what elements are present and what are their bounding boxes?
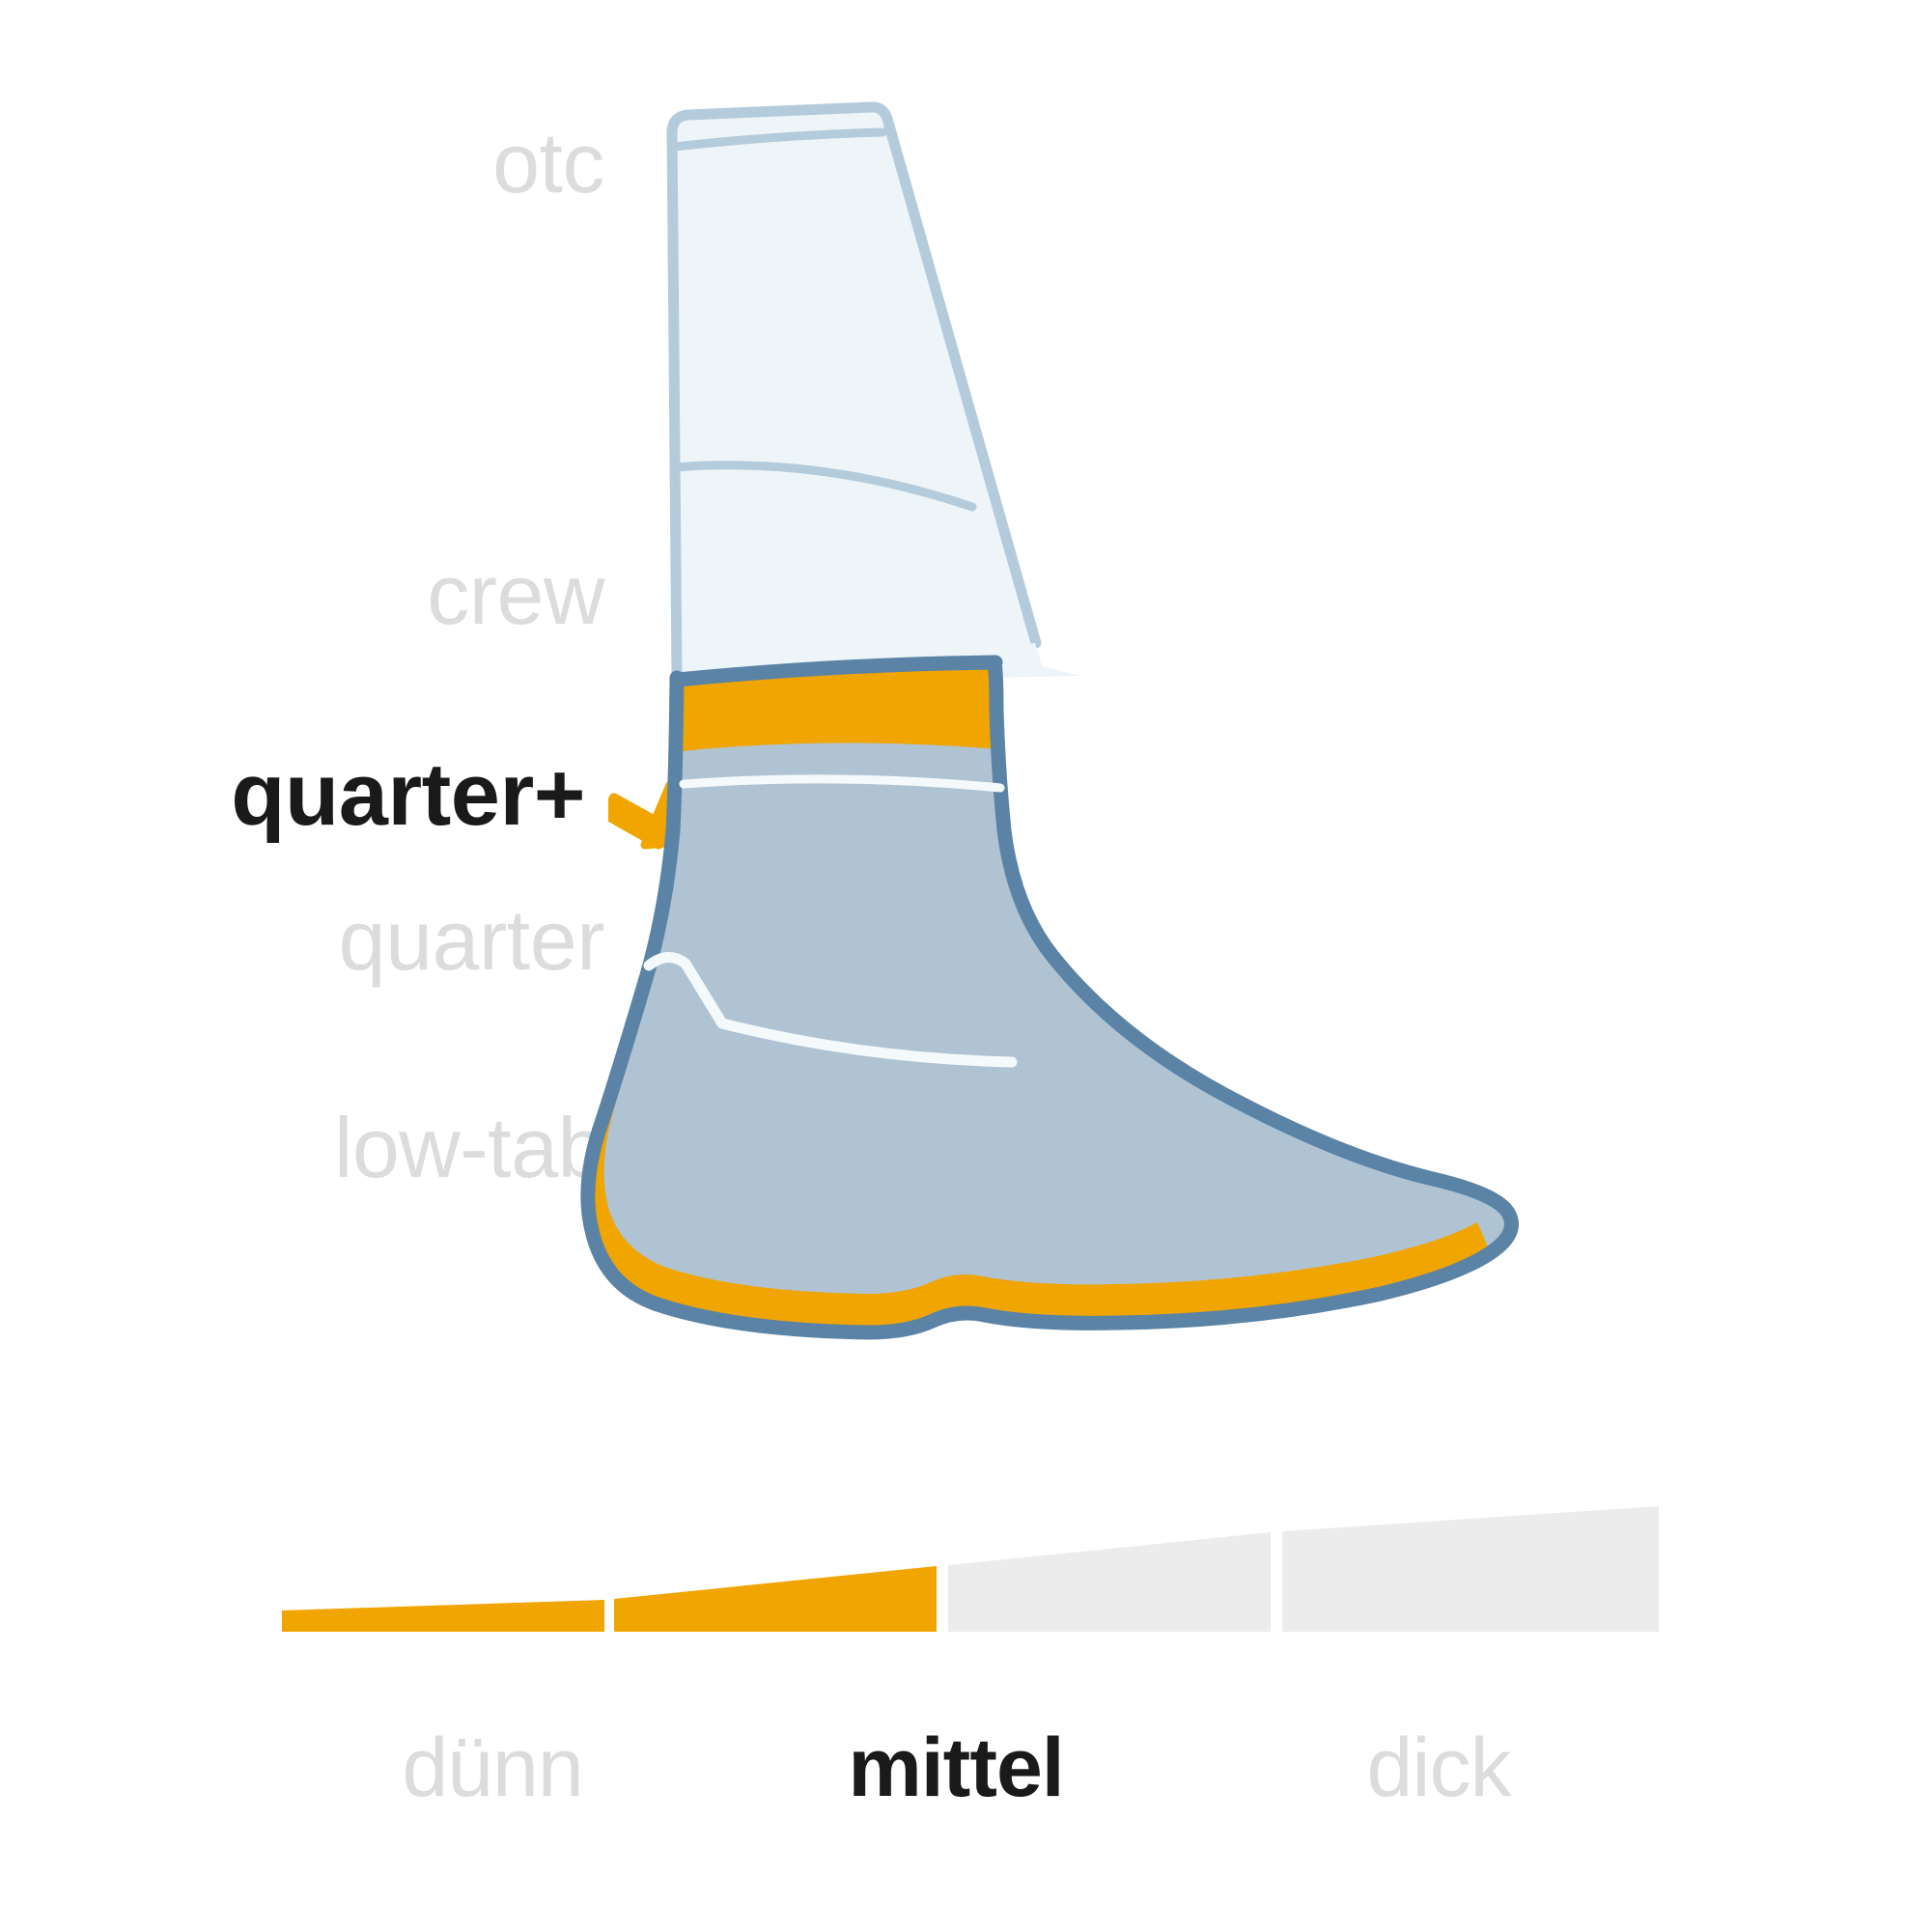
sock-ghost-shaft	[671, 106, 1081, 691]
height-option-low-tab[interactable]: low-tab	[334, 1106, 604, 1190]
thickness-option-dick[interactable]: dick	[1313, 1726, 1564, 1809]
height-option-quarter-plus[interactable]: quarter+	[231, 750, 585, 839]
gauge-segment-4[interactable]	[1282, 1506, 1659, 1632]
gauge-segment-3[interactable]	[948, 1532, 1271, 1632]
thickness-wedge-gauge[interactable]	[261, 1506, 1680, 1651]
sock-active-body	[586, 662, 1512, 1332]
sock-spec-diagram: otc crew quarter+ quarter low-tab	[0, 0, 1932, 1932]
gauge-segment-2[interactable]	[614, 1566, 937, 1632]
gauge-segment-1[interactable]	[282, 1600, 604, 1632]
height-option-quarter[interactable]: quarter	[339, 898, 604, 983]
height-option-crew[interactable]: crew	[427, 552, 604, 637]
thickness-option-mittel[interactable]: mittel	[792, 1726, 1120, 1809]
sock-side-view-illustration	[579, 97, 1593, 1477]
thickness-option-duenn[interactable]: dünn	[357, 1726, 628, 1809]
